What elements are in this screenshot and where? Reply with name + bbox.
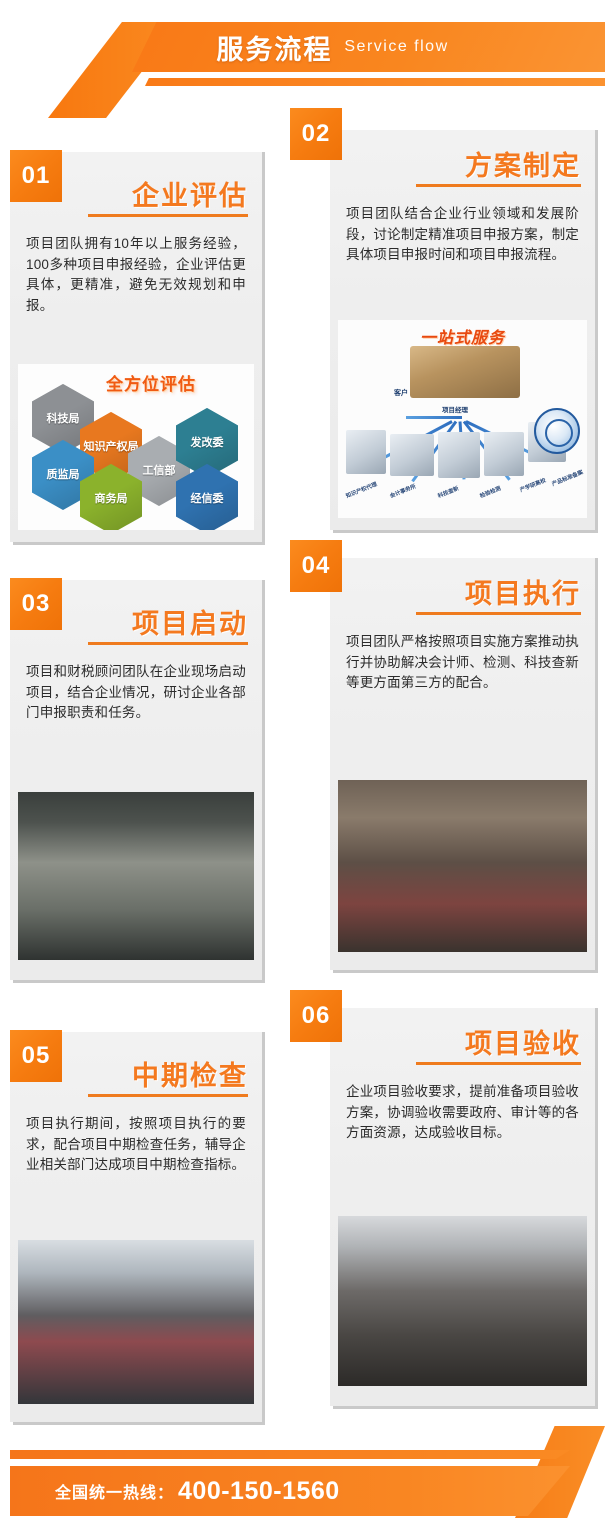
hexagon-diagram-title: 全方位评估 (106, 370, 196, 395)
step-card-04[interactable]: 项目执行 项目团队严格按照项目实施方案推动执行并协助解决会计师、检测、科技查新等… (330, 558, 595, 970)
page-footer: 全国统一热线： 400-150-1560 (0, 1408, 605, 1538)
step-title-02: 方案制定 (465, 144, 581, 183)
step-body-06: 企业项目验收要求，提前准备项目验收方案，协调验收需要政府、审计等的各方面资源，达… (346, 1082, 579, 1144)
step-card-01[interactable]: 企业评估 项目团队拥有10年以上服务经验，100多种项目申报经验，企业评估更具体… (10, 152, 262, 542)
step-title-05: 中期检查 (132, 1054, 248, 1093)
hotline-label: 全国统一热线： (55, 1479, 174, 1503)
page-header: 服务流程 Service flow (0, 0, 605, 118)
step-body-02: 项目团队结合企业行业领域和发展阶段，讨论制定精准项目申报方案，制定具体项目申报时… (346, 204, 579, 266)
step-number-badge-02: 02 (290, 108, 342, 160)
header-banner-bar (132, 22, 605, 72)
hexagon-node-label: 工信部 (143, 465, 176, 478)
step-title-03: 项目启动 (132, 602, 248, 641)
one-stop-node-1 (390, 434, 434, 476)
one-stop-node-3 (484, 432, 524, 476)
title-underline-06 (416, 1062, 581, 1065)
manager-label: 项目经理 (442, 404, 468, 414)
one-stop-node-label-3: 检验检测 (479, 484, 502, 500)
step-number-badge-05: 05 (10, 1030, 62, 1082)
one-stop-node-label-1: 会计事务所 (389, 482, 418, 500)
step-number-badge-06: 06 (290, 990, 342, 1042)
step-body-01: 项目团队拥有10年以上服务经验，100多种项目申报经验，企业评估更具体，更精准，… (26, 234, 246, 316)
step-title-04: 项目执行 (465, 572, 581, 611)
step-title-01: 企业评估 (132, 174, 248, 213)
hexagon-diagram: 全方位评估 科技局 知识产权局 质监局 工信部 商务局 发改委 经信委 (18, 364, 254, 530)
hexagon-node-label: 质监局 (47, 469, 80, 482)
hotline-group: 全国统一热线： 400-150-1560 (55, 1466, 340, 1516)
header-banner-underbar (145, 78, 605, 86)
hexagon-node-label: 商务局 (95, 493, 128, 506)
one-stop-node-label-4: 产学研高校 (519, 476, 548, 494)
one-stop-center-photo (410, 346, 520, 398)
step-body-03: 项目和财税顾问团队在企业现场启动项目，结合企业情况，研讨企业各部门申报职责和任务… (26, 662, 246, 724)
title-underline-04 (416, 612, 581, 615)
conference-room-photo: conference-room-photo (18, 792, 254, 960)
hexagon-node-label: 经信委 (191, 493, 224, 506)
step-title-06: 项目验收 (465, 1022, 581, 1061)
step-card-02[interactable]: 方案制定 项目团队结合企业行业领域和发展阶段，讨论制定精准项目申报方案，制定具体… (330, 130, 595, 530)
boardroom-review-photo: boardroom-review-photo (338, 1216, 587, 1386)
footer-thin-bar (10, 1450, 570, 1459)
hexagon-node-label: 知识产权局 (84, 441, 139, 454)
client-label: 客户 (394, 388, 408, 398)
step-number-badge-01: 01 (10, 150, 62, 202)
title-underline-01 (88, 214, 248, 217)
step-body-04: 项目团队严格按照项目实施方案推动执行并协助解决会计师、检测、科技查新等更方面第三… (346, 632, 579, 694)
meeting-working-photo: meeting-working-photo (338, 780, 587, 952)
title-underline-02 (416, 184, 581, 187)
title-underline-05 (88, 1094, 248, 1097)
step-number-badge-04: 04 (290, 540, 342, 592)
one-stop-node-label-0: 知识产权代理 (345, 480, 379, 500)
one-stop-service-diagram: 一站式服务 客户 项目经理 知识产权代理 会计事务所 科技查新 检验检测 产学研… (338, 320, 587, 518)
hexagon-node-label: 科技局 (47, 413, 80, 426)
step-card-05[interactable]: 中期检查 项目执行期间，按照项目执行的要求，配合项目中期检查任务，辅导企业相关部… (10, 1032, 262, 1422)
certification-seal-icon (534, 408, 580, 454)
arrow-to-client (406, 416, 462, 419)
one-stop-node-label-2: 科技查新 (437, 484, 460, 500)
hexagon-node-label: 发改委 (191, 437, 224, 450)
title-underline-03 (88, 642, 248, 645)
one-stop-node-2 (438, 432, 480, 478)
hotline-number[interactable]: 400-150-1560 (178, 1477, 340, 1506)
step-card-06[interactable]: 项目验收 企业项目验收要求，提前准备项目验收方案，协调验收需要政府、审计等的各方… (330, 1008, 595, 1406)
step-body-05: 项目执行期间，按照项目执行的要求，配合项目中期检查任务，辅导企业相关部门达成项目… (26, 1114, 246, 1176)
service-counter-photo: service-counter-photo (18, 1240, 254, 1404)
one-stop-node-label-5: 产品标准备案 (551, 468, 585, 488)
step-number-badge-03: 03 (10, 578, 62, 630)
step-card-03[interactable]: 项目启动 项目和财税顾问团队在企业现场启动项目，结合企业情况，研讨企业各部门申报… (10, 580, 262, 980)
one-stop-title: 一站式服务 (338, 324, 587, 348)
one-stop-node-0 (346, 430, 386, 474)
